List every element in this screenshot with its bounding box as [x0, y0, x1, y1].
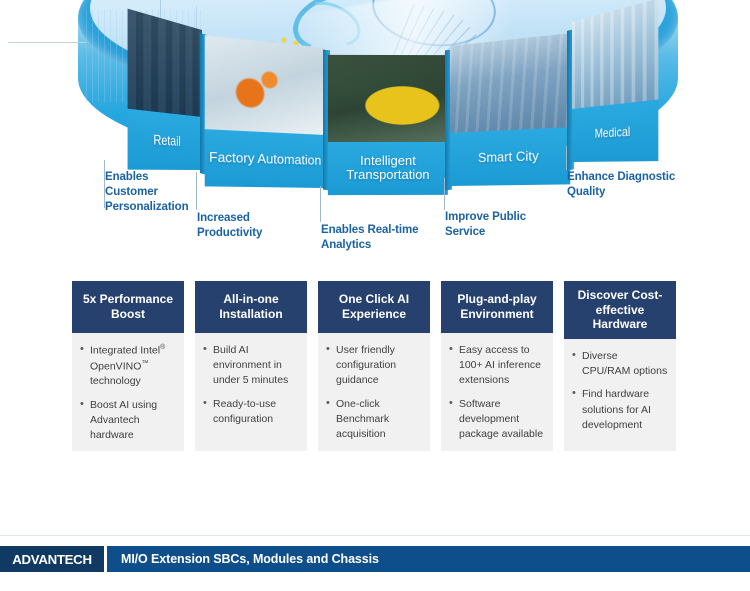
stem-transportation: [320, 186, 321, 222]
card-bullet: Diverse CPU/RAM options: [570, 349, 668, 379]
banner-segment-label: Retail: [128, 108, 202, 170]
card-title: Discover Cost-effective Hardware: [564, 281, 676, 339]
trademark-mark-icon: ™: [141, 360, 148, 367]
card-bullet: Easy access to 100+ AI inference extensi…: [447, 343, 545, 389]
banner-segment-label: Factory Automation: [205, 129, 325, 188]
stem-smart-city: [444, 178, 445, 210]
footer-title: MI/O Extension SBCs, Modules and Chassis: [107, 552, 379, 566]
banner-segment-intelligent-transportation: Intelligent Transportation: [328, 55, 448, 195]
card-bullet: User friendly configuration guidance: [324, 343, 422, 389]
banner-segment-medical: Medical: [572, 0, 658, 162]
card-bullet: One-click Benchmark acquisition: [324, 397, 422, 443]
smart-city-photo: [450, 33, 570, 133]
banner-segment-retail: Retail: [128, 9, 202, 170]
benefit-label-retail: Enables Customer Personalization: [105, 170, 215, 215]
card-body: Diverse CPU/RAM options Find hardware so…: [564, 339, 676, 451]
banner-left-connector: [8, 42, 86, 43]
factory-photo: [205, 35, 325, 135]
card-bullet: Integrated Intel® OpenVINO™ technology: [78, 343, 176, 390]
banner-segment-smart-city: Smart City: [450, 33, 570, 186]
feature-card-plug-and-play-environment[interactable]: Plug-and-play Environment Easy access to…: [441, 281, 553, 451]
card-title: Plug-and-play Environment: [441, 281, 553, 333]
feature-card-all-in-one-installation[interactable]: All-in-one Installation Build AI environ…: [195, 281, 307, 451]
transportation-photo: [328, 55, 448, 142]
registered-mark-icon: ®: [160, 344, 165, 351]
card-bullet: Ready-to-use configuration: [201, 397, 299, 427]
banner-segment-label: Intelligent Transportation: [328, 142, 448, 195]
card-title: 5x Performance Boost: [72, 281, 184, 333]
card-body: Integrated Intel® OpenVINO™ technology B…: [72, 333, 184, 459]
feature-card-performance-boost[interactable]: 5x Performance Boost Integrated Intel® O…: [72, 281, 184, 451]
banner-segment-factory-automation: Factory Automation: [205, 35, 325, 188]
card-bullet: Find hardware solutions for AI developme…: [570, 387, 668, 433]
advantech-logo-text: ADVANTECH: [12, 552, 92, 567]
benefit-label-smart-city: Improve Public Service: [445, 210, 565, 240]
card-body: Easy access to 100+ AI inference extensi…: [441, 333, 553, 458]
benefit-label-transportation: Enables Real-time Analytics: [321, 223, 441, 253]
card-bullet: Build AI environment in under 5 minutes: [201, 343, 299, 389]
banner-segment-label: Medical: [572, 99, 658, 162]
benefit-label-factory: Increased Productivity: [197, 211, 307, 241]
card-bullet: Boost AI using Advantech hardware: [78, 398, 176, 444]
feature-card-one-click-ai-experience[interactable]: One Click AI Experience User friendly co…: [318, 281, 430, 451]
feature-card-row: 5x Performance Boost Integrated Intel® O…: [72, 281, 682, 451]
footer-bar: ADVANTECH MI/O Extension SBCs, Modules a…: [0, 546, 750, 572]
footer-divider: [0, 535, 750, 536]
card-title: All-in-one Installation: [195, 281, 307, 333]
card-title: One Click AI Experience: [318, 281, 430, 333]
stem-medical: [566, 146, 567, 170]
feature-card-discover-cost-effective-hardware[interactable]: Discover Cost-effective Hardware Diverse…: [564, 281, 676, 451]
advantech-logo[interactable]: ADVANTECH: [0, 546, 104, 572]
banner-segment-label: Smart City: [450, 127, 570, 186]
card-bullet: Software development package available: [447, 397, 545, 443]
benefit-label-medical: Enhance Diagnostic Quality: [567, 170, 697, 200]
card-body: Build AI environment in under 5 minutes …: [195, 333, 307, 451]
card-body: User friendly configuration guidance One…: [318, 333, 430, 458]
